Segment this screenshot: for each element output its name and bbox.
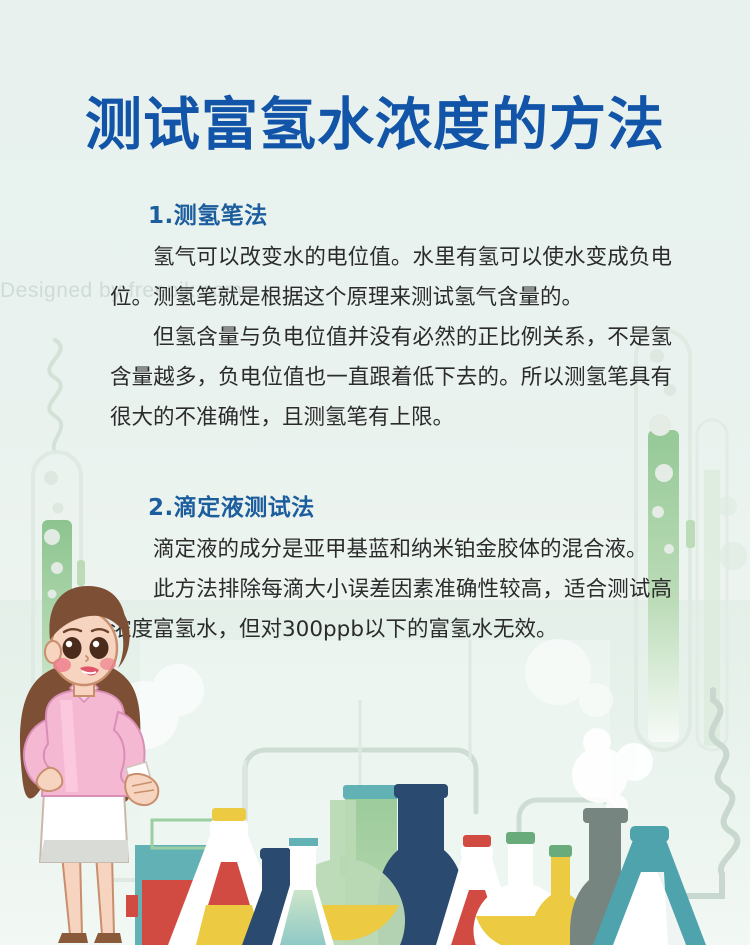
poster-canvas: 测试富氢水浓度的方法 Designed by freepik.com 1.测氢笔… — [0, 0, 750, 945]
illustration-layer — [0, 0, 750, 945]
round-flask-edge-white — [700, 881, 750, 945]
